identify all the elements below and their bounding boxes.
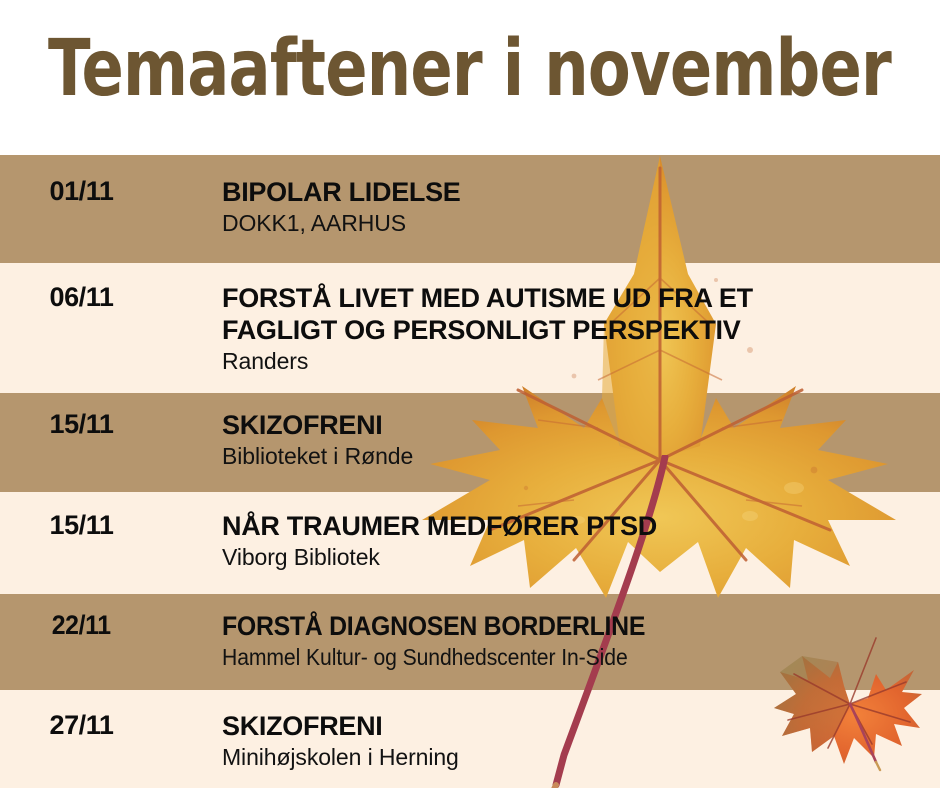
event-details: FORSTÅ LIVET MED AUTISME UD FRA ET FAGLI…	[155, 282, 940, 376]
poster-header: Temaaftener i november	[0, 0, 940, 155]
list-item[interactable]: 22/11 FORSTÅ DIAGNOSEN BORDERLINE Hammel…	[0, 594, 940, 690]
event-venue: Viborg Bibliotek	[222, 542, 940, 572]
poster-canvas: Temaaftener i november 01/11 BIPOLAR LID…	[0, 0, 940, 788]
event-venue: Hammel Kultur- og Sundhedscenter In-Side	[222, 642, 883, 672]
event-title-line-2: FAGLIGT OG PERSONLIGT PERSPEKTIV	[222, 314, 940, 346]
list-item[interactable]: 15/11 NÅR TRAUMER MEDFØRER PTSD Viborg B…	[0, 492, 940, 594]
event-title: NÅR TRAUMER MEDFØRER PTSD	[222, 510, 940, 542]
event-list: 01/11 BIPOLAR LIDELSE DOKK1, AARHUS 06/1…	[0, 155, 940, 788]
event-title: BIPOLAR LIDELSE	[222, 176, 940, 208]
event-title: SKIZOFRENI	[222, 409, 940, 441]
event-title-line-1: FORSTÅ LIVET MED AUTISME UD FRA ET	[222, 282, 940, 314]
event-details: FORSTÅ DIAGNOSEN BORDERLINE Hammel Kultu…	[155, 610, 940, 672]
event-date: 15/11	[0, 510, 155, 541]
event-title: FORSTÅ DIAGNOSEN BORDERLINE	[222, 610, 883, 642]
list-item[interactable]: 15/11 SKIZOFRENI Biblioteket i Rønde	[0, 393, 940, 492]
list-item[interactable]: 27/11 SKIZOFRENI Minihøjskolen i Herning	[0, 690, 940, 788]
list-item[interactable]: 06/11 FORSTÅ LIVET MED AUTISME UD FRA ET…	[0, 263, 940, 393]
event-title: SKIZOFRENI	[222, 710, 940, 742]
event-venue: Minihøjskolen i Herning	[222, 742, 940, 772]
event-date: 22/11	[6, 610, 149, 641]
event-date: 06/11	[0, 282, 155, 313]
page-title: Temaaftener i november	[48, 26, 891, 112]
list-item[interactable]: 01/11 BIPOLAR LIDELSE DOKK1, AARHUS	[0, 155, 940, 263]
event-date: 01/11	[0, 176, 155, 207]
event-details: NÅR TRAUMER MEDFØRER PTSD Viborg Bibliot…	[155, 510, 940, 572]
event-venue: DOKK1, AARHUS	[222, 208, 940, 238]
event-venue: Biblioteket i Rønde	[222, 441, 940, 471]
event-venue: Randers	[222, 346, 940, 376]
event-details: SKIZOFRENI Biblioteket i Rønde	[155, 409, 940, 471]
event-date: 15/11	[0, 409, 155, 440]
event-date: 27/11	[0, 710, 155, 741]
event-details: SKIZOFRENI Minihøjskolen i Herning	[155, 710, 940, 772]
event-details: BIPOLAR LIDELSE DOKK1, AARHUS	[155, 176, 940, 238]
